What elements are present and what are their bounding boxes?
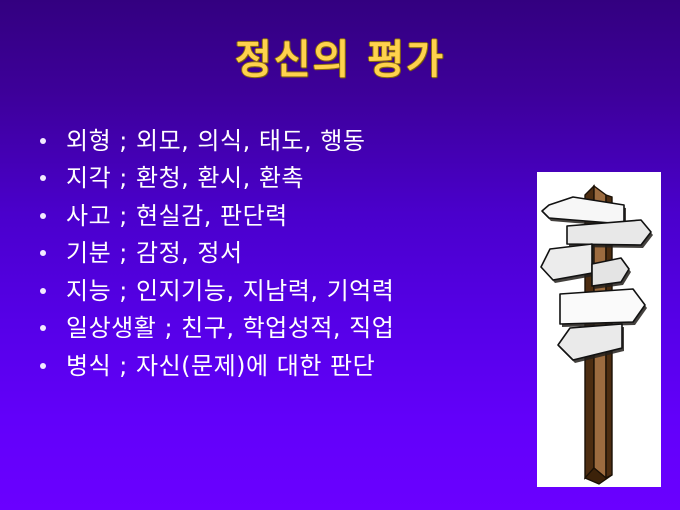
bullet-dot-icon xyxy=(40,213,46,219)
bullet-dot-icon xyxy=(40,175,46,181)
list-item-label: 지각 ; 환청, 환시, 환촉 xyxy=(66,164,304,192)
list-item-label: 기분 ; 감정, 정서 xyxy=(66,239,243,267)
list-item: 기분 ; 감정, 정서 xyxy=(36,235,516,273)
list-item: 일상생활 ; 친구, 학업성적, 직업 xyxy=(36,310,516,348)
list-item: 사고 ; 현실감, 판단력 xyxy=(36,197,516,235)
slide: 정신의 평가 외형 ; 외모, 의식, 태도, 행동 지각 ; 환청, 환시, … xyxy=(0,0,680,510)
list-item: 지능 ; 인지기능, 지남력, 기억력 xyxy=(36,272,516,310)
bullet-dot-icon xyxy=(40,288,46,294)
signpost-image xyxy=(537,172,661,487)
bullet-dot-icon xyxy=(40,138,46,144)
list-item-label: 지능 ; 인지기능, 지남력, 기억력 xyxy=(66,277,394,305)
sign-3 xyxy=(541,244,594,283)
list-item-label: 일상생활 ; 친구, 학업성적, 직업 xyxy=(66,314,394,342)
signpost-icon xyxy=(537,172,661,487)
list-item-label: 병식 ; 자신(문제)에 대한 판단 xyxy=(66,352,375,380)
sign-6 xyxy=(558,324,624,363)
bullet-dot-icon xyxy=(40,325,46,331)
list-item: 지각 ; 환청, 환시, 환촉 xyxy=(36,160,516,198)
sign-2 xyxy=(567,220,653,248)
list-item: 외형 ; 외모, 의식, 태도, 행동 xyxy=(36,122,516,160)
sign-5 xyxy=(560,289,647,327)
bullet-list: 외형 ; 외모, 의식, 태도, 행동 지각 ; 환청, 환시, 환촉 사고 ;… xyxy=(36,122,516,385)
list-item: 병식 ; 자신(문제)에 대한 판단 xyxy=(36,347,516,385)
bullet-dot-icon xyxy=(40,250,46,256)
sign-4 xyxy=(592,258,631,289)
list-item-label: 사고 ; 현실감, 판단력 xyxy=(66,202,288,230)
list-item-label: 외형 ; 외모, 의식, 태도, 행동 xyxy=(66,127,365,155)
bullet-dot-icon xyxy=(40,363,46,369)
slide-title: 정신의 평가 xyxy=(0,36,680,84)
